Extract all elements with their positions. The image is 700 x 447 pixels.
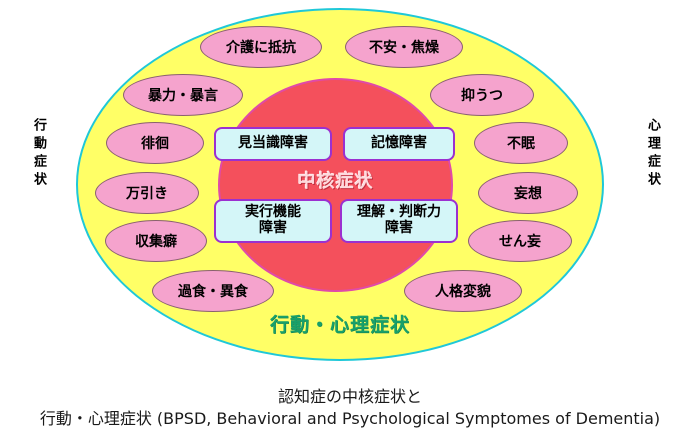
- symptom-ellipse-1: 不安・焦燥: [345, 26, 463, 68]
- caption-line-1: 認知症の中核症状と: [0, 386, 700, 408]
- symptom-ellipse-11: 人格変貌: [404, 270, 522, 312]
- figure-caption: 認知症の中核症状と 行動・心理症状 (BPSD, Behavioral and …: [0, 386, 700, 430]
- caption-line-2: 行動・心理症状 (BPSD, Behavioral and Psychologi…: [0, 408, 700, 430]
- symptom-ellipse-2: 暴力・暴言: [123, 74, 243, 116]
- core-box-memory-disorder: 記憶障害: [343, 127, 455, 161]
- symptom-ellipse-5: 不眠: [474, 122, 568, 164]
- symptom-ellipse-10: 過食・異食: [152, 270, 274, 312]
- diagram-canvas: 中核症状 見当識障害 記憶障害 実行機能 障害 理解・判断力 障害 介護に抵抗 …: [0, 0, 700, 447]
- symptom-ellipse-8: 収集癖: [105, 220, 207, 262]
- symptom-ellipse-3: 抑うつ: [430, 74, 534, 116]
- outer-ring-label: 行動・心理症状: [76, 310, 604, 337]
- symptom-ellipse-9: せん妄: [468, 220, 572, 262]
- core-box-orientation-disorder: 見当識障害: [214, 127, 332, 161]
- symptom-ellipse-4: 徘徊: [106, 122, 204, 164]
- core-symptoms-label: 中核症状: [218, 167, 453, 193]
- core-box-executive-dysfunction: 実行機能 障害: [214, 199, 332, 243]
- core-box-comprehension-judgement-disorder: 理解・判断力 障害: [340, 199, 458, 243]
- symptom-ellipse-0: 介護に抵抗: [200, 26, 322, 68]
- symptom-ellipse-6: 万引き: [95, 172, 199, 214]
- symptom-ellipse-7: 妄想: [478, 172, 578, 214]
- side-label-psychological-symptoms: 心理症状: [646, 118, 659, 190]
- side-label-behavioral-symptoms: 行動症状: [32, 118, 45, 190]
